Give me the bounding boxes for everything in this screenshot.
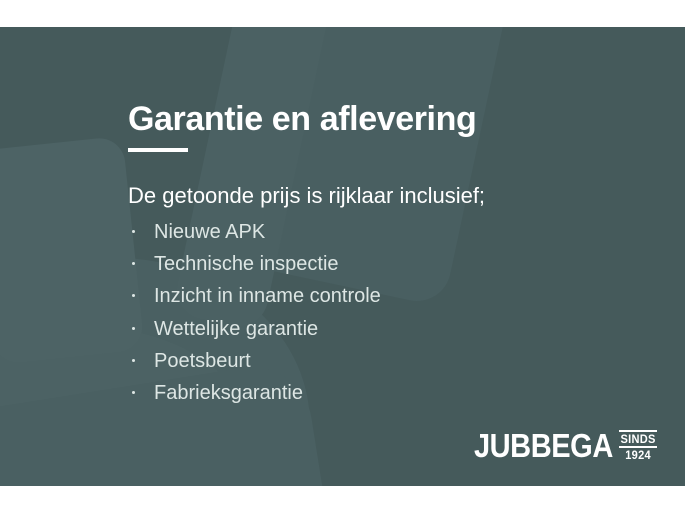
title-block: Garantie en aflevering (128, 102, 476, 152)
brand-logo: JUBBEGA SINDS 1924 (455, 429, 657, 462)
bullet-icon (132, 294, 135, 297)
list-item: Inzicht in inname controle (128, 280, 598, 312)
title-accent-bar (128, 148, 188, 152)
list-item-label: Wettelijke garantie (154, 318, 318, 340)
logo-year-label: 1924 (620, 448, 655, 462)
list-item: Nieuwe APK (128, 216, 598, 248)
logo-wordmark: JUBBEGA (474, 429, 613, 462)
bullet-icon (132, 391, 135, 394)
intro-text: De getoonde prijs is rijklaar inclusief; (128, 182, 598, 210)
list-item: Poetsbeurt (128, 345, 598, 377)
list-item: Wettelijke garantie (128, 313, 598, 345)
list-item-label: Poetsbeurt (154, 350, 251, 372)
logo-established-block: SINDS 1924 (619, 430, 657, 462)
slide-panel: Garantie en aflevering De getoonde prijs… (0, 27, 685, 486)
list-item-label: Technische inspectie (154, 253, 339, 275)
list-item: Technische inspectie (128, 248, 598, 280)
list-item-label: Nieuwe APK (154, 221, 265, 243)
slide-root: Garantie en aflevering De getoonde prijs… (0, 0, 685, 514)
list-item-label: Inzicht in inname controle (154, 285, 381, 307)
feature-list: Nieuwe APK Technische inspectie Inzicht … (128, 216, 598, 410)
bullet-icon (132, 262, 135, 265)
bullet-icon (132, 359, 135, 362)
page-title: Garantie en aflevering (128, 102, 476, 138)
body-block: De getoonde prijs is rijklaar inclusief;… (128, 182, 598, 410)
logo-sinds-label: SINDS (620, 432, 655, 446)
list-item: Fabrieksgarantie (128, 377, 598, 409)
bullet-icon (132, 230, 135, 233)
list-item-label: Fabrieksgarantie (154, 382, 303, 404)
slide-content: Garantie en aflevering De getoonde prijs… (0, 27, 685, 486)
bullet-icon (132, 327, 135, 330)
